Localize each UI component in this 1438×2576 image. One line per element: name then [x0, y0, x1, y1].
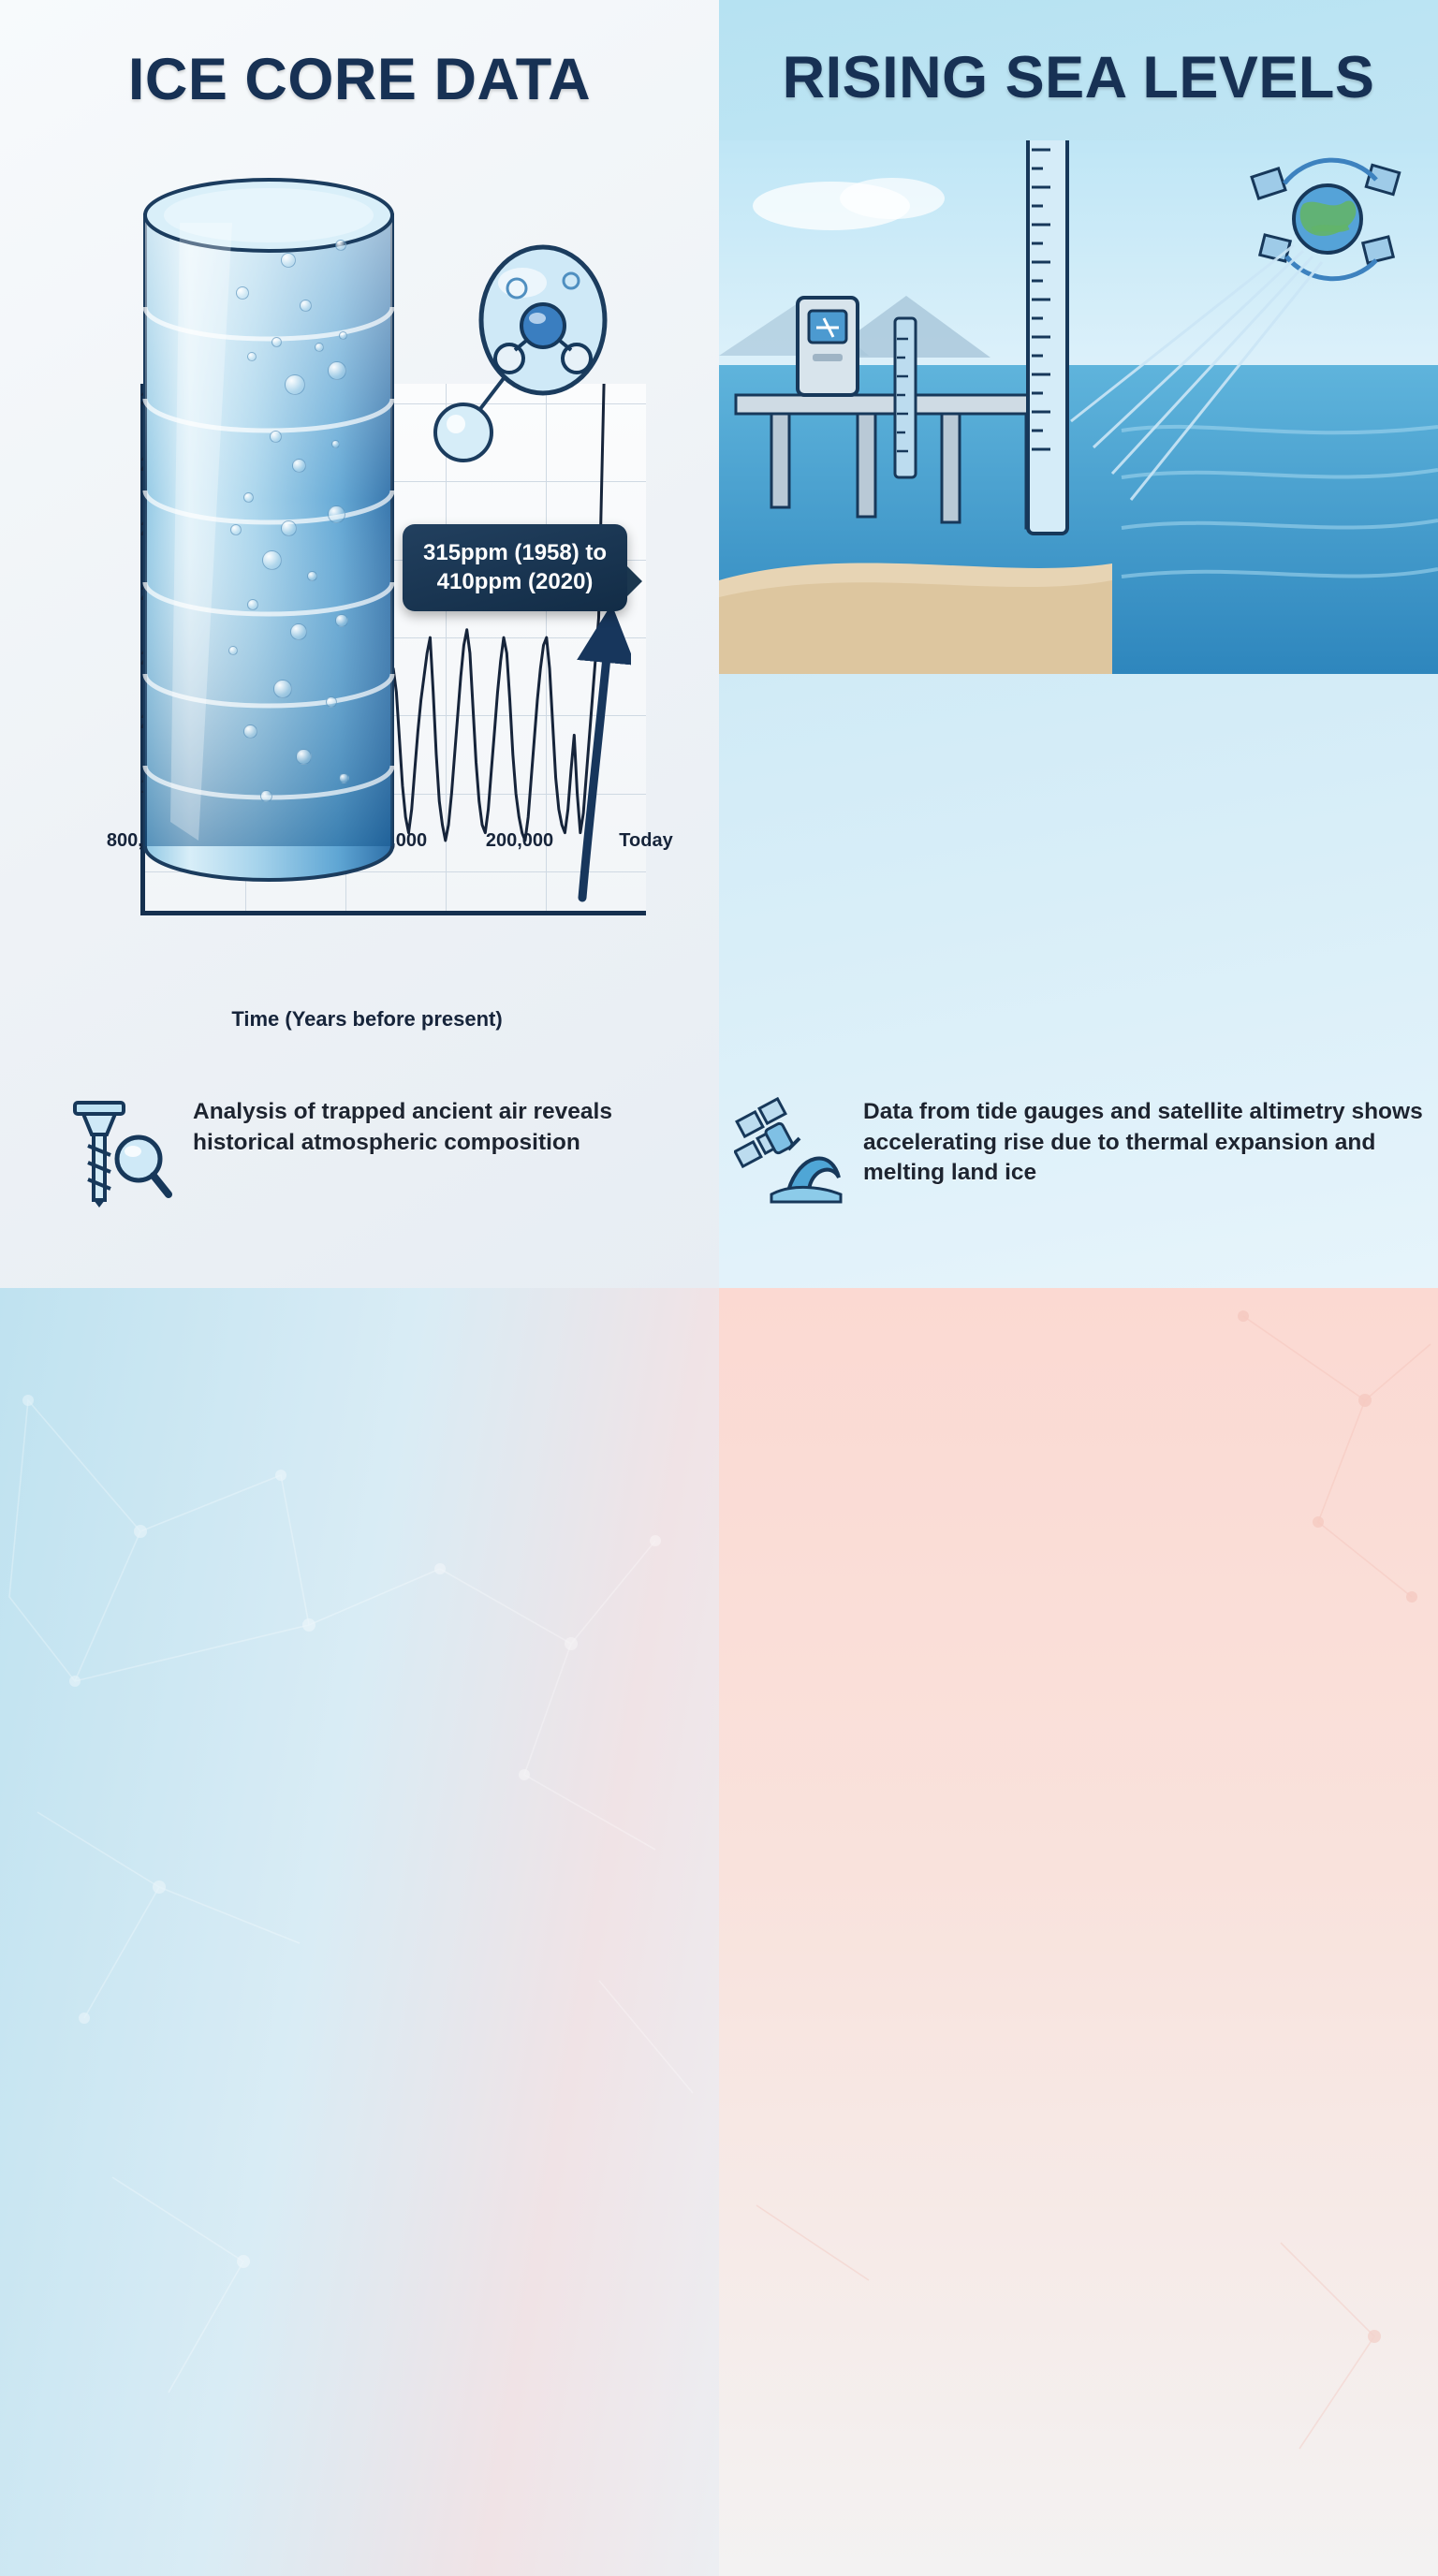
- caption-text-ice-core: Analysis of trapped ancient air reveals …: [193, 1097, 667, 1158]
- satellite-wave-icon: [734, 1097, 843, 1207]
- chart1-x-tick: 200,000: [486, 830, 553, 852]
- sea-level-scene-illustration: [719, 140, 1438, 674]
- panel-title-sea-level: RISING SEA LEVELS: [719, 47, 1438, 110]
- chart1-x-axis-label: Time (Years before present): [67, 1007, 667, 1032]
- chart1-x-tick: 400,000: [359, 830, 427, 852]
- panel-temperature: TEMPERATURE RECORDS Temperature Anomaly …: [719, 1288, 1438, 2576]
- chart1-x-tick: 800,000: [107, 830, 174, 852]
- co2-range-callout: 315ppm (1958) to 410ppm (2020): [403, 524, 627, 611]
- caption-ice-core: Analysis of trapped ancient air reveals …: [67, 1097, 667, 1207]
- co2-molecule-magnifier-icon: [412, 234, 609, 468]
- infographic-grid: ICE CORE DATA CO2 Concentration (ppm) 30…: [0, 0, 1438, 2576]
- panel-ice-sheets: SHRINKING ICE SHEETS 1990: [0, 1288, 719, 2576]
- ice-drill-magnifier-icon: [67, 1097, 172, 1207]
- panel-sea-level: RISING SEA LEVELS: [719, 0, 1438, 1288]
- caption-text-sea-level: Data from tide gauges and satellite alti…: [863, 1097, 1427, 1189]
- panel-title-ice-core: ICE CORE DATA: [0, 49, 719, 111]
- callout-line-1: 315ppm (1958) to: [423, 539, 607, 568]
- network-background-decoration-2: [719, 1288, 1438, 2576]
- caption-sea-level: Data from tide gauges and satellite alti…: [734, 1097, 1427, 1207]
- callout-line-2: 410ppm (2020): [423, 568, 607, 597]
- chart1-x-tick: 600,000: [233, 830, 301, 852]
- panel-ice-core: ICE CORE DATA CO2 Concentration (ppm) 30…: [0, 0, 719, 1288]
- chart1-rising-arrow-icon: [565, 596, 631, 905]
- network-background-decoration: [0, 1288, 719, 2576]
